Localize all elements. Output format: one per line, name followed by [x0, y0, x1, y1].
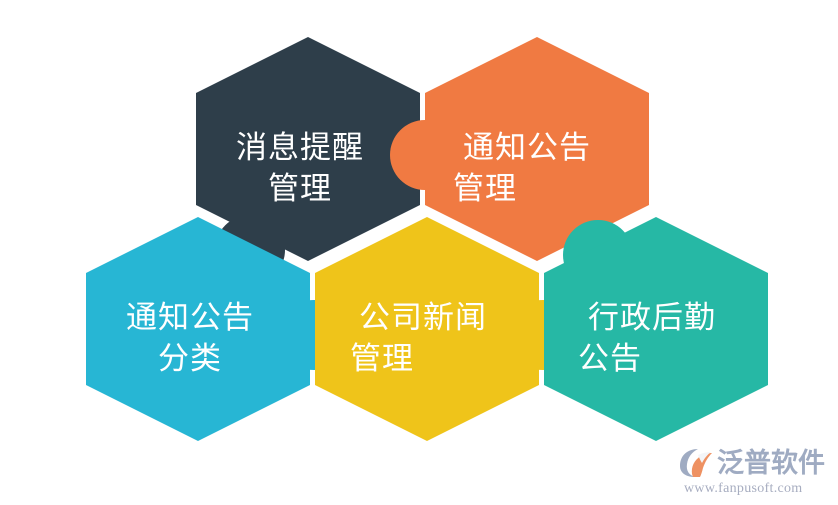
hex-label-line2-orange: 管理: [453, 171, 517, 206]
fanpu-logo-icon: [678, 447, 714, 479]
infographic-canvas: 消息提醒 管理 通知公告 管理 通知公告 分类 公司新闻 管理: [0, 0, 838, 505]
hex-label-line2-yellow: 管理: [350, 341, 414, 376]
hex-label-line1-teal: 行政后勤: [588, 300, 716, 335]
hex-label-line1-dark: 消息提醒: [236, 130, 364, 165]
hex-label-line1-orange: 通知公告: [463, 130, 591, 165]
watermark-url: www.fanpusoft.com: [684, 481, 803, 497]
hex-label-line2-cyan: 分类: [158, 341, 222, 376]
hex-label-line2-teal: 公告: [578, 341, 642, 376]
hex-label-line2-dark: 管理: [268, 171, 332, 206]
watermark-brand-name: 泛普软件: [717, 450, 825, 477]
hex-label-line1-yellow: 公司新闻: [359, 300, 487, 335]
watermark-logo: 泛普软件 www.fanpusoft.com: [678, 441, 826, 497]
hexagon-puzzle-diagram: 消息提醒 管理 通知公告 管理 通知公告 分类 公司新闻 管理: [0, 0, 838, 505]
hex-tile-admin-logistics-announcement[interactable]: 行政后勤 公告: [544, 217, 768, 441]
hex-label-line1-cyan: 通知公告: [126, 300, 254, 335]
watermark-brand-row: 泛普软件: [678, 447, 825, 479]
